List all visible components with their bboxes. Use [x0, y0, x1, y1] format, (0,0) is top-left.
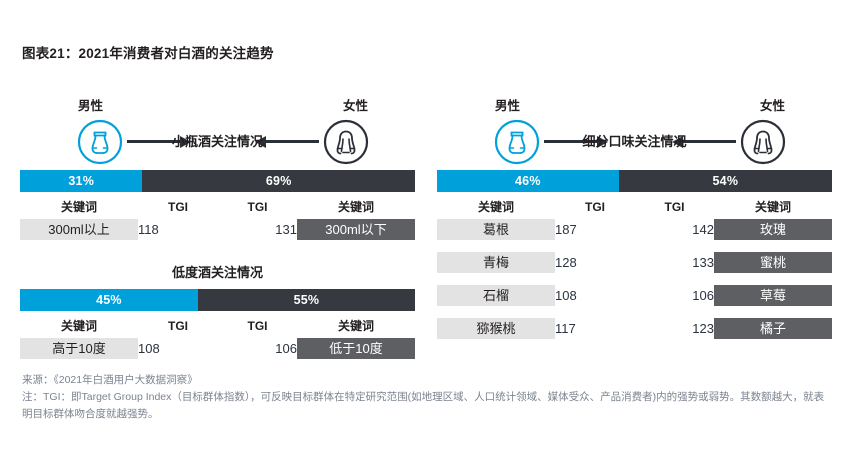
male-label: 男性: [78, 95, 103, 114]
table-row: 300ml以上 118 131 300ml以下: [20, 219, 415, 240]
footer: 来源：《2021年白酒用户大数据洞察》 注：TGI：即Target Group …: [22, 372, 834, 423]
keyword-female-cell: 蜜桃: [714, 252, 832, 273]
keyword-male-cell: 猕猴桃: [437, 318, 555, 339]
keyword-table: 关键词 TGI TGI 关键词 高于10度 108 106 低于10度: [20, 311, 415, 359]
topic-title: 细分口味关注情况: [437, 131, 832, 150]
female-percentage: 54%: [619, 170, 832, 192]
percentage-bar: 45% 55%: [20, 289, 415, 311]
male-percentage: 31%: [20, 170, 142, 192]
column-header-tgi-female: TGI: [218, 192, 297, 219]
table-row: 葛根 187 142 玫瑰: [437, 219, 832, 240]
table-row: 青梅 128 133 蜜桃: [437, 252, 832, 273]
table-header-row: 关键词 TGI TGI 关键词: [437, 192, 832, 219]
keyword-male-cell: 葛根: [437, 219, 555, 240]
column-header-keyword-male: 关键词: [20, 311, 138, 338]
table-header-row: 关键词 TGI TGI 关键词: [20, 311, 415, 338]
column-header-tgi-male: TGI: [138, 192, 218, 219]
column-header-tgi-female: TGI: [218, 311, 297, 338]
female-percentage: 55%: [198, 289, 415, 311]
keyword-female-cell: 300ml以下: [297, 219, 415, 240]
keyword-male-cell: 青梅: [437, 252, 555, 273]
column-header-tgi-female: TGI: [635, 192, 714, 219]
column-header-keyword-male: 关键词: [20, 192, 138, 219]
row-spacer: [437, 240, 832, 252]
table-row: 石榴 108 106 草莓: [437, 285, 832, 306]
male-percentage: 46%: [437, 170, 619, 192]
keyword-female-cell: 草莓: [714, 285, 832, 306]
tgi-male-cell: 128: [555, 252, 635, 273]
tgi-female-cell: 106: [635, 285, 714, 306]
male-label: 男性: [495, 95, 520, 114]
female-label: 女性: [760, 95, 785, 114]
column-header-tgi-male: TGI: [555, 192, 635, 219]
gender-header-row: 男性 女性: [437, 95, 832, 170]
note-text: 注：TGI：即Target Group Index（目标群体指数），可反映目标群…: [22, 389, 834, 423]
column-header-keyword-female: 关键词: [297, 192, 415, 219]
tgi-female-cell: 123: [635, 318, 714, 339]
table-row: 猕猴桃 117 123 橘子: [437, 318, 832, 339]
tgi-female-cell: 131: [218, 219, 297, 240]
keyword-female-cell: 橘子: [714, 318, 832, 339]
keyword-male-cell: 石榴: [437, 285, 555, 306]
page-title: 图表21：2021年消费者对白酒的关注趋势: [22, 42, 274, 62]
tgi-male-cell: 117: [555, 318, 635, 339]
row-spacer: [437, 306, 832, 318]
column-header-tgi-male: TGI: [138, 311, 218, 338]
panel-small-bottle: 男性 女性: [20, 95, 415, 359]
keyword-table: 关键词 TGI TGI 关键词 300ml以上 118 131 300ml以下: [20, 192, 415, 240]
keyword-female-cell: 玫瑰: [714, 219, 832, 240]
tgi-female-cell: 106: [218, 338, 297, 359]
tgi-female-cell: 142: [635, 219, 714, 240]
tgi-male-cell: 118: [138, 219, 218, 240]
table-row: 高于10度 108 106 低于10度: [20, 338, 415, 359]
keyword-male-cell: 高于10度: [20, 338, 138, 359]
tgi-male-cell: 108: [555, 285, 635, 306]
male-percentage: 45%: [20, 289, 198, 311]
keyword-female-cell: 低于10度: [297, 338, 415, 359]
topic-title: 小瓶酒关注情况: [20, 131, 415, 150]
percentage-bar: 31% 69%: [20, 170, 415, 192]
tgi-male-cell: 187: [555, 219, 635, 240]
chart-page: 图表21：2021年消费者对白酒的关注趋势 男性 女性: [0, 0, 843, 451]
keyword-table: 关键词 TGI TGI 关键词 葛根 187 142 玫瑰 青梅 128 133: [437, 192, 832, 339]
table-header-row: 关键词 TGI TGI 关键词: [20, 192, 415, 219]
column-header-keyword-male: 关键词: [437, 192, 555, 219]
source-text: 来源：《2021年白酒用户大数据洞察》: [22, 372, 834, 389]
gender-header-row: 男性 女性: [20, 95, 415, 170]
column-header-keyword-female: 关键词: [714, 192, 832, 219]
row-spacer: [437, 273, 832, 285]
panel-flavor-segment: 男性 女性: [437, 95, 832, 339]
female-label: 女性: [343, 95, 368, 114]
keyword-male-cell: 300ml以上: [20, 219, 138, 240]
percentage-bar: 46% 54%: [437, 170, 832, 192]
female-percentage: 69%: [142, 170, 415, 192]
tgi-female-cell: 133: [635, 252, 714, 273]
column-header-keyword-female: 关键词: [297, 311, 415, 338]
topic-title-low-alcohol: 低度酒关注情况: [20, 262, 415, 281]
tgi-male-cell: 108: [138, 338, 218, 359]
